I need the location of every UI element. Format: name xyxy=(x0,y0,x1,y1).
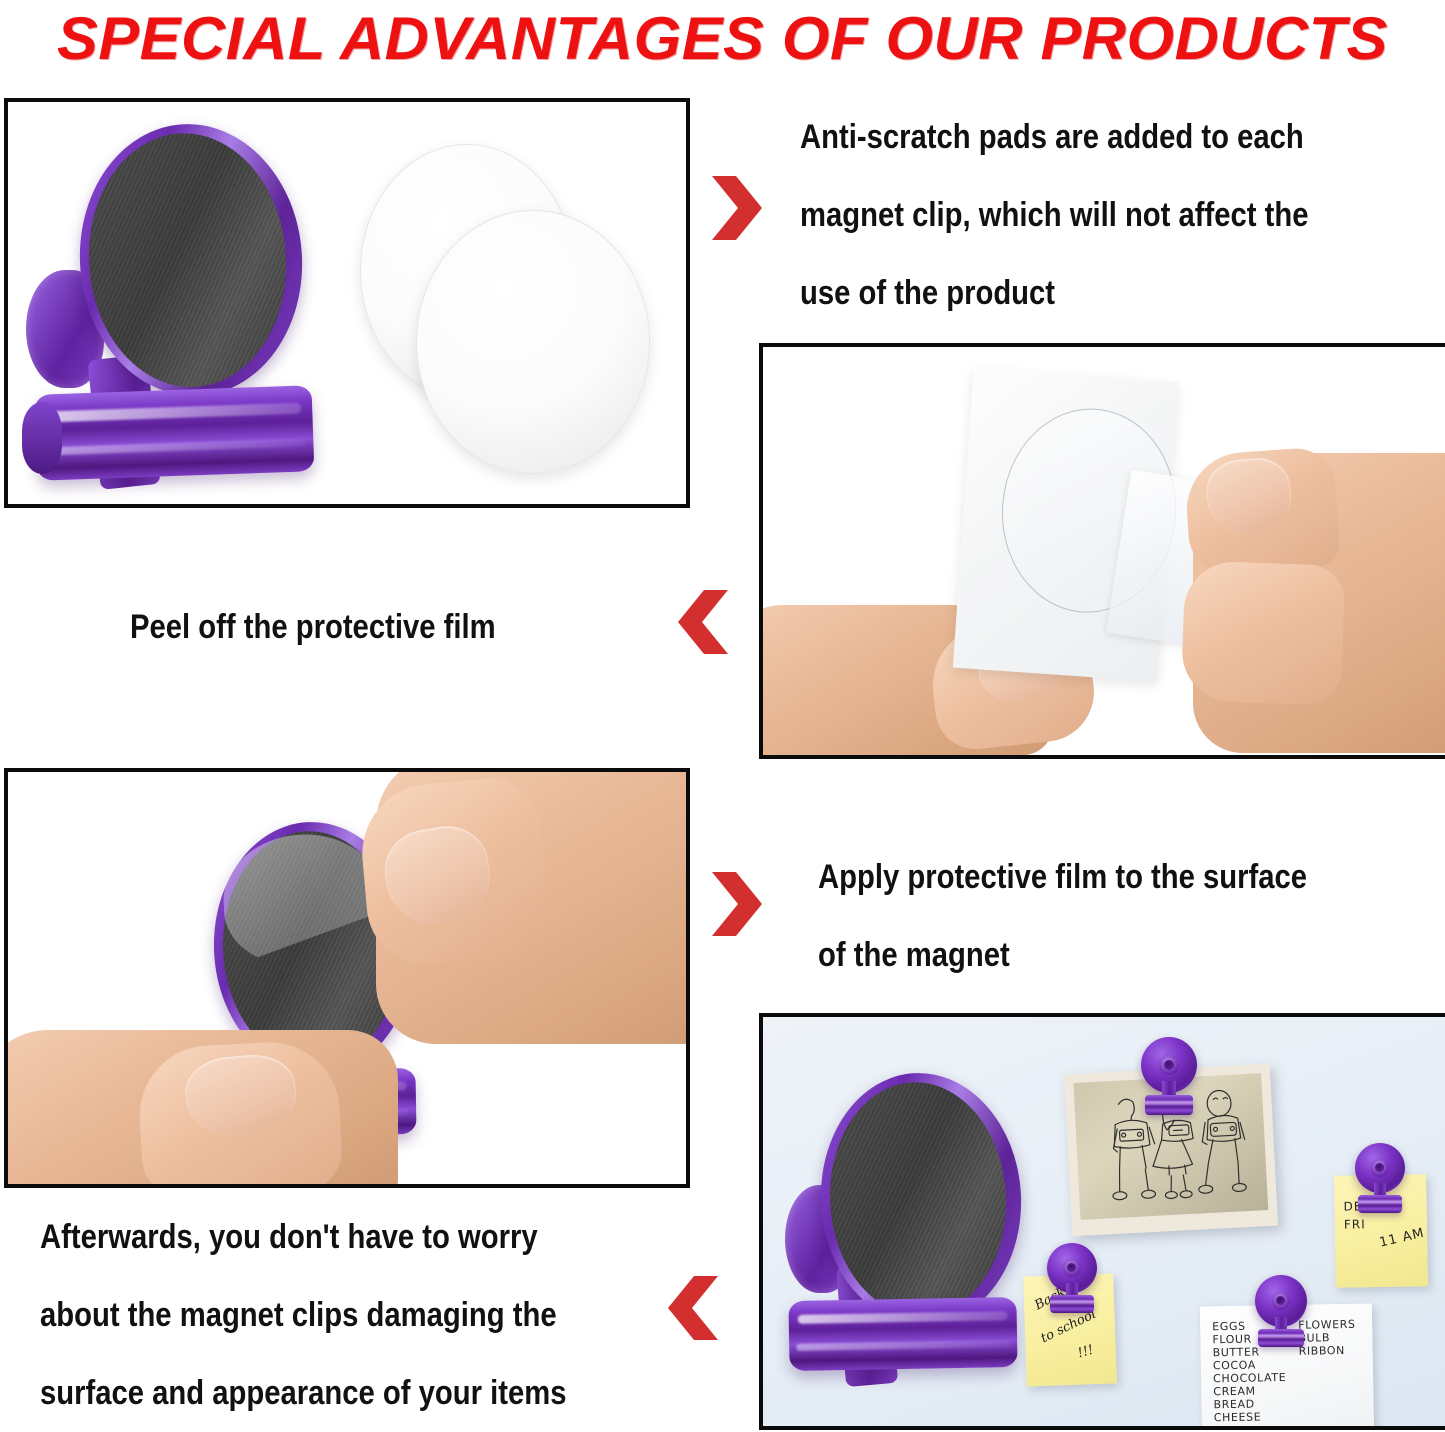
caption4-line1: Afterwards, you don't have to worry xyxy=(40,1198,659,1276)
sticky-school-line3: !!! xyxy=(1076,1343,1095,1362)
caption1-line1: Anti-scratch pads are added to each xyxy=(800,98,1368,176)
photo-fridge-scene: Back to school !!! DENTIST FRI 11 AM xyxy=(759,1013,1445,1430)
caption3-line2: of the magnet xyxy=(818,916,1386,994)
anti-scratch-pad-front xyxy=(416,210,650,474)
clip-hub-center-3 xyxy=(1375,1163,1384,1172)
scene-magnet-disc-face xyxy=(824,1078,1012,1321)
caption1-line3: use of the product xyxy=(800,254,1368,332)
list-item: RIBBON xyxy=(1299,1344,1357,1358)
chevron-right-icon xyxy=(706,172,768,244)
photo4-stage: Back to school !!! DENTIST FRI 11 AM xyxy=(763,1017,1445,1426)
jaw-highlight-secondary xyxy=(45,439,306,456)
scene-clip-jaw xyxy=(788,1297,1017,1371)
clip-bar-4 xyxy=(1258,1329,1304,1347)
photo-peeling-protective-film xyxy=(759,343,1445,759)
clip-bar xyxy=(1145,1095,1193,1115)
photo-applying-film-to-magnet xyxy=(4,768,690,1188)
chevron-left-icon xyxy=(672,586,734,658)
caption4-line3: surface and appearance of your items xyxy=(40,1354,659,1432)
caption2-line1: Peel off the protective film xyxy=(130,588,612,666)
photo2-stage xyxy=(763,347,1445,755)
chevron-left-icon-2 xyxy=(662,1272,724,1344)
clip-hub-center-2 xyxy=(1067,1263,1076,1272)
clip-jaw-end xyxy=(22,402,62,474)
right-thumb xyxy=(1181,560,1346,705)
clip-jaw xyxy=(35,385,315,481)
list-item: BREAD xyxy=(1213,1397,1286,1411)
clip-hub-center-4 xyxy=(1276,1296,1285,1305)
scene-jaw-highlight-secondary xyxy=(796,1341,1010,1351)
chevron-right-icon-2 xyxy=(706,868,768,940)
clip-bar-2 xyxy=(1050,1295,1094,1313)
photo1-stage xyxy=(8,102,686,504)
caption-anti-scratch-pads: Anti-scratch pads are added to each magn… xyxy=(800,98,1368,332)
list-item: COCOA xyxy=(1213,1358,1286,1372)
caption4-line2: about the magnet clips damaging the xyxy=(40,1276,659,1354)
caption-no-damage: Afterwards, you don't have to worry abou… xyxy=(40,1198,659,1432)
photo3-stage xyxy=(8,772,686,1184)
magnet-clip-on-shopping-list xyxy=(1255,1275,1307,1357)
scene-jaw-highlight xyxy=(798,1311,1008,1324)
magnet-clip-on-dentist-note xyxy=(1355,1143,1405,1223)
magnet-clip-on-photo xyxy=(1141,1037,1197,1123)
caption1-line2: magnet clip, which will not affect the xyxy=(800,176,1368,254)
sticky-dentist-line3: 11 AM xyxy=(1378,1226,1426,1251)
caption-peel-off-film: Peel off the protective film xyxy=(130,588,612,666)
magnet-clip-on-school-note xyxy=(1047,1243,1097,1323)
photo-magnet-clip-with-pads xyxy=(4,98,690,508)
list-item: CREAM xyxy=(1213,1384,1286,1398)
infographic-page: SPECIAL ADVANTAGES OF OUR PRODUCTS Anti-… xyxy=(0,0,1445,1426)
clip-hub-center xyxy=(1164,1060,1174,1070)
list-item: CHOCOLATE xyxy=(1213,1371,1286,1385)
list-item: CHEESE xyxy=(1214,1410,1287,1424)
caption-apply-film: Apply protective film to the surface of … xyxy=(818,838,1386,994)
jaw-highlight xyxy=(46,403,301,423)
caption3-line1: Apply protective film to the surface xyxy=(818,838,1386,916)
page-title: SPECIAL ADVANTAGES OF OUR PRODUCTS xyxy=(0,0,1445,76)
clip-bar-3 xyxy=(1358,1195,1402,1213)
magnet-disc-face xyxy=(80,127,294,394)
